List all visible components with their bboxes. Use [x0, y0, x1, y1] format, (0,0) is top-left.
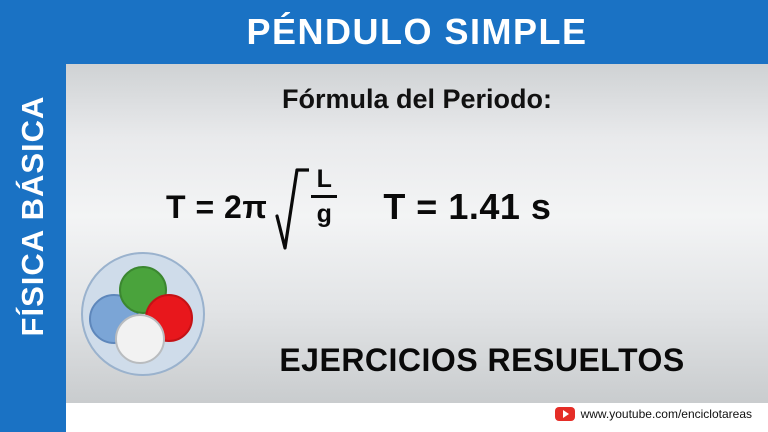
formula-lead: T = 2π [166, 189, 267, 226]
headline-text: EJERCICIOS RESUELTOS [196, 342, 768, 379]
period-formula: T = 2π L g [166, 164, 337, 250]
slide-root: FÍSICA BÁSICA PÉNDULO SIMPLE Fórmula del… [0, 0, 768, 432]
enciclotareas-logo [81, 252, 205, 376]
formula-row: T = 2π L g T = 1.41 s [166, 164, 551, 250]
square-root-icon [275, 164, 309, 250]
fraction-denominator: g [317, 201, 332, 227]
fraction-bar [311, 195, 337, 198]
footer-bar: www.youtube.com/enciclotareas [66, 403, 768, 432]
left-sidebar-label: FÍSICA BÁSICA [0, 0, 66, 432]
content-area: Fórmula del Periodo: T = 2π L g [66, 64, 768, 403]
section-subtitle: Fórmula del Periodo: [66, 84, 768, 115]
length-gravity-fraction: L g [311, 166, 337, 228]
title-bar: PÉNDULO SIMPLE [66, 0, 768, 64]
white-circle-icon [115, 314, 165, 364]
footer-channel-link[interactable]: www.youtube.com/enciclotareas [555, 407, 752, 421]
fraction-numerator: L [317, 166, 332, 192]
page-title: PÉNDULO SIMPLE [246, 11, 587, 53]
left-sidebar-banner: FÍSICA BÁSICA [0, 0, 66, 432]
period-result: T = 1.41 s [383, 186, 551, 228]
footer-url-text: www.youtube.com/enciclotareas [581, 407, 752, 421]
square-root-group: L g [275, 164, 337, 250]
youtube-icon [555, 407, 575, 421]
